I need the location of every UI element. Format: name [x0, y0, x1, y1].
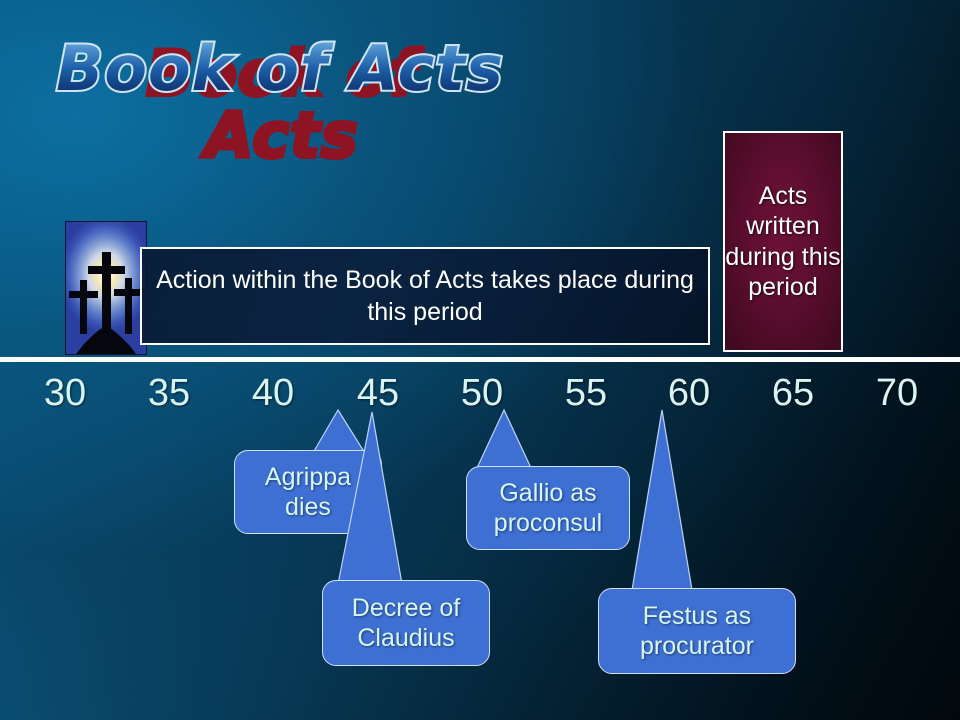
callout-line2-gallio: proconsul [494, 509, 602, 537]
three-crosses-image [65, 221, 147, 355]
callout-line2-festus: procurator [640, 632, 754, 660]
callout-text-gallio: Gallio as proconsul [494, 478, 602, 538]
callout-line1-festus: Festus as [643, 602, 751, 630]
tick-label-70: 70 [857, 374, 937, 412]
callout-line1-claudius: Decree of [352, 594, 460, 622]
callout-bubble-claudius[interactable]: Decree of Claudius [322, 580, 490, 666]
callout-line2-claudius: Claudius [357, 624, 454, 652]
callout-tail-festus [630, 410, 720, 592]
tick-label-30: 30 [25, 374, 105, 412]
crosses-icon [66, 222, 146, 354]
tick-label-45: 45 [338, 374, 418, 412]
tick-label-35: 35 [129, 374, 209, 412]
callout-bubble-festus[interactable]: Festus as procurator [598, 588, 796, 674]
callout-tail-gallio [476, 410, 546, 472]
title-shadow-layer: Book of Acts [60, 43, 504, 167]
callout-bubble-gallio[interactable]: Gallio as proconsul [466, 466, 630, 550]
tick-label-50: 50 [442, 374, 522, 412]
tick-label-60: 60 [649, 374, 729, 412]
callout-line1-gallio: Gallio as [499, 479, 596, 507]
tick-label-65: 65 [753, 374, 833, 412]
slide-canvas: Book of Acts Book of Acts Book of Acts [0, 0, 960, 720]
title-fill-layer: Book of Acts [56, 32, 504, 105]
tick-label-55: 55 [546, 374, 626, 412]
caption-textbox: Action within the Book of Acts takes pla… [140, 247, 710, 345]
title-outline-layer: Book of Acts [56, 38, 504, 100]
acts-written-note: Acts written during this period [723, 131, 843, 352]
callout-text-claudius: Decree of Claudius [352, 593, 460, 653]
acts-written-text: Acts written during this period [725, 181, 841, 303]
tick-label-40: 40 [233, 374, 313, 412]
callout-tail-claudius [330, 412, 410, 587]
callout-text-festus: Festus as procurator [640, 601, 754, 661]
slide-title: Book of Acts Book of Acts Book of Acts [0, 38, 560, 100]
caption-text: Action within the Book of Acts takes pla… [142, 264, 708, 328]
timeline-axis-line [0, 357, 960, 362]
callout-line2-agrippa: dies [285, 493, 331, 521]
